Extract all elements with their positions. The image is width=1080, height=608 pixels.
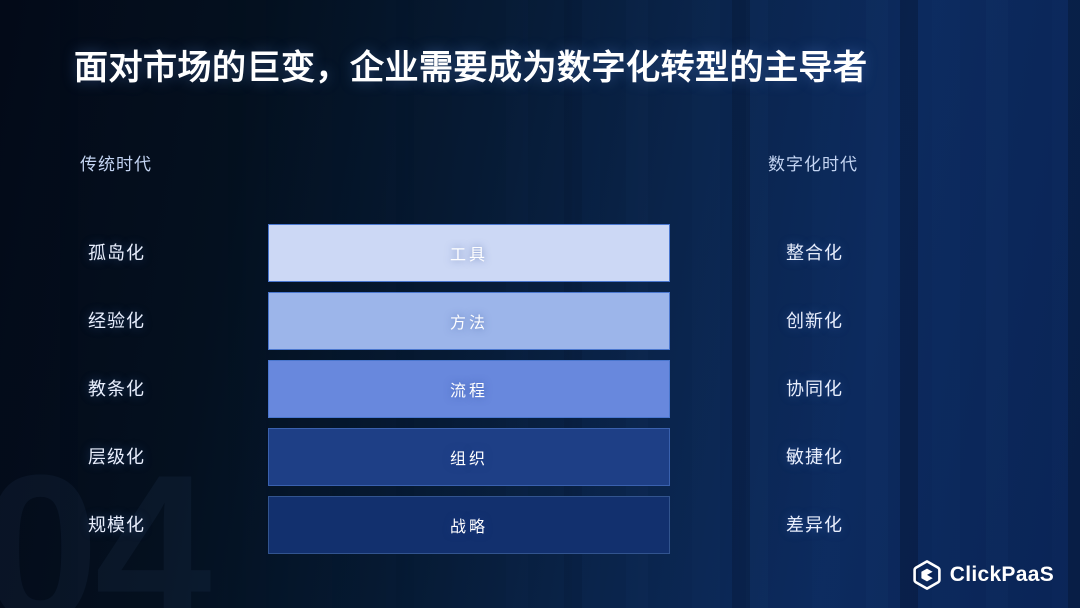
row-label-left: 规模化 xyxy=(88,496,145,554)
row-label-right: 差异化 xyxy=(786,496,843,554)
comparison-rows: 孤岛化 工具 整合化 经验化 方法 创新化 教条化 流程 协同化 层级化 组织 … xyxy=(0,224,1080,564)
brand-logo: ClickPaaS xyxy=(913,560,1054,590)
page-title: 面对市场的巨变，企业需要成为数字化转型的主导者 xyxy=(74,40,868,89)
row-label-left: 层级化 xyxy=(88,428,145,486)
row-label-left: 经验化 xyxy=(88,292,145,350)
row-label-right: 敏捷化 xyxy=(786,428,843,486)
comparison-row: 教条化 流程 协同化 xyxy=(0,360,1080,418)
comparison-row: 规模化 战略 差异化 xyxy=(0,496,1080,554)
clickpaas-hexagon-icon xyxy=(913,560,941,590)
row-label-left: 教条化 xyxy=(88,360,145,418)
center-bar[interactable]: 方法 xyxy=(268,292,670,350)
row-label-right: 整合化 xyxy=(786,224,843,282)
center-bar[interactable]: 战略 xyxy=(268,496,670,554)
column-header-traditional: 传统时代 xyxy=(80,150,152,175)
row-label-right: 创新化 xyxy=(786,292,843,350)
comparison-row: 层级化 组织 敏捷化 xyxy=(0,428,1080,486)
center-bar[interactable]: 工具 xyxy=(268,224,670,282)
slide-canvas: 04 面对市场的巨变，企业需要成为数字化转型的主导者 传统时代 数字化时代 孤岛… xyxy=(0,0,1080,608)
center-bar[interactable]: 组织 xyxy=(268,428,670,486)
center-bar[interactable]: 流程 xyxy=(268,360,670,418)
row-label-left: 孤岛化 xyxy=(88,224,145,282)
row-label-right: 协同化 xyxy=(786,360,843,418)
column-header-digital: 数字化时代 xyxy=(768,150,858,175)
comparison-row: 孤岛化 工具 整合化 xyxy=(0,224,1080,282)
comparison-row: 经验化 方法 创新化 xyxy=(0,292,1080,350)
logo-wordmark: ClickPaaS xyxy=(950,563,1054,587)
